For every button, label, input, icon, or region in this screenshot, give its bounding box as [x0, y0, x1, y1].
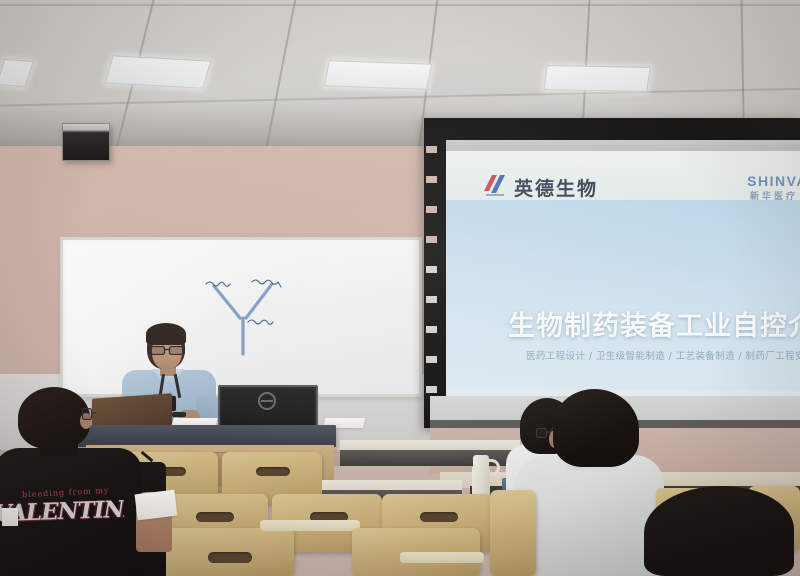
paper-sheet: [2, 508, 18, 526]
student-foreground-right-head: [644, 486, 794, 576]
recessed-light-panel: [543, 65, 650, 92]
chair-handle-slot: [196, 512, 234, 522]
slide-top-band: [446, 140, 800, 151]
chair-seat[interactable]: [260, 520, 360, 531]
presenter-glasses-icon: [149, 346, 185, 355]
projection-screen-surface: 英德生物 SHINVA 新华医疗 生物制药装备工业自控介绍 医药工程设计 / 卫…: [446, 140, 800, 410]
paper-sheet: [135, 490, 178, 521]
chair-handle-slot: [208, 552, 252, 563]
ceiling-speaker: [62, 123, 110, 161]
chair-handle-slot: [420, 512, 458, 522]
presenter-pointer-device: [172, 412, 186, 417]
lectern-top: [76, 425, 336, 447]
classroom-photo: 英德生物 SHINVA 新华医疗 生物制药装备工业自控介绍 医药工程设计 / 卫…: [0, 0, 800, 576]
brand-logo-text: 英德生物: [514, 174, 598, 201]
recessed-light-panel: [105, 55, 212, 88]
recessed-light-panel: [324, 60, 433, 90]
slide-header: 英德生物 SHINVA 新华医疗: [446, 151, 800, 200]
dell-logo-icon: [258, 392, 276, 410]
chair-seat[interactable]: [400, 552, 484, 563]
slide-body: 生物制药装备工业自控介绍 医药工程设计 / 卫生级智能制造 / 工艺装备制造 /…: [446, 200, 800, 396]
student-glasses-icon: [82, 408, 104, 420]
thermos-cap[interactable]: [473, 455, 489, 468]
student-front-right-torso: [514, 455, 664, 576]
recessed-light-panel: [0, 59, 34, 87]
slide-title: 生物制药装备工业自控介绍: [508, 304, 800, 343]
slide-subtitle: 医药工程设计 / 卫生级智能制造 / 工艺装备制造 / 制药厂工程安装: [526, 348, 800, 362]
partner-logo-en: SHINVA: [747, 173, 800, 189]
yingde-logo-icon: [482, 173, 508, 198]
whiteboard-antibody-drawing: [196, 278, 306, 356]
presenter-hair: [146, 323, 186, 345]
student-front-right-head: [553, 389, 639, 467]
chair-handle-slot: [256, 467, 290, 476]
lecture-chair[interactable]: [490, 490, 536, 576]
tshirt-graphic-text: VALENTINE: [0, 496, 124, 528]
student-front-left-head: [18, 387, 90, 449]
